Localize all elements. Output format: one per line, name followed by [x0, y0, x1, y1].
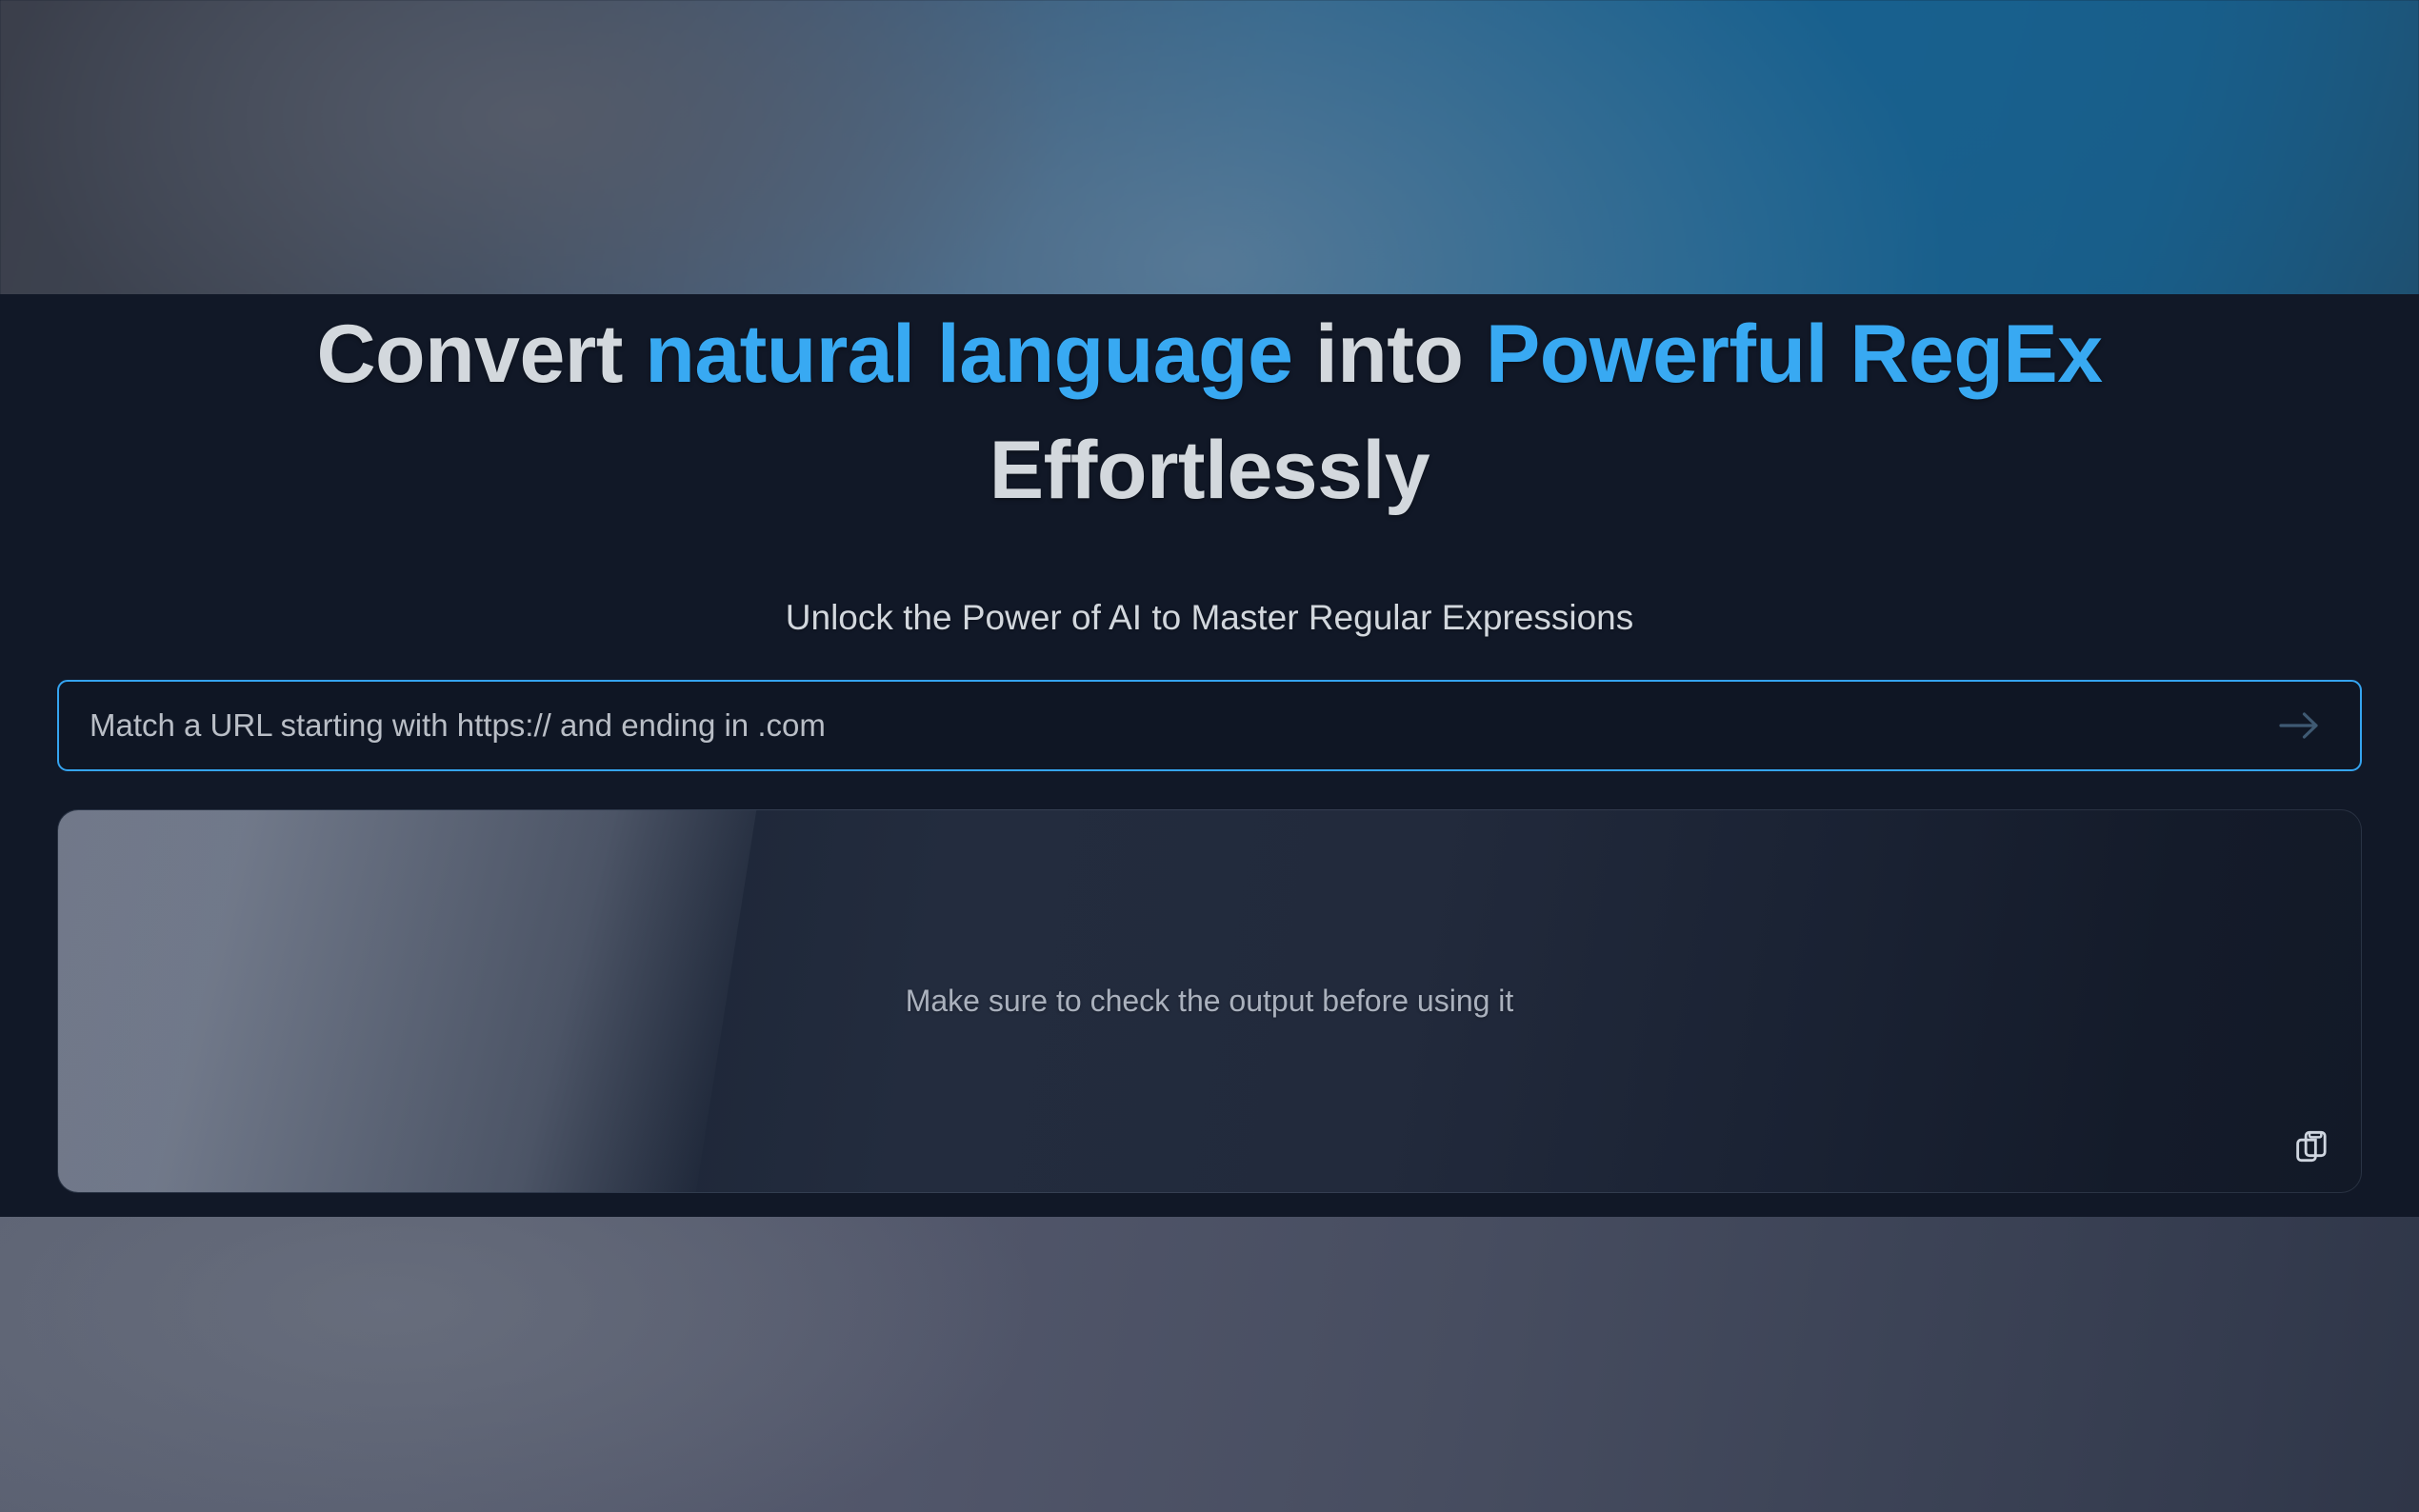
regex-output-panel[interactable]: Make sure to check the output before usi…	[57, 809, 2362, 1193]
regex-generator-app: Convert natural language into Powerful R…	[0, 294, 2419, 1217]
prompt-input[interactable]	[90, 682, 2269, 769]
page-title: Convert natural language into Powerful R…	[0, 313, 2419, 511]
headline-accent-1: natural language	[645, 308, 1292, 400]
desktop-wallpaper-top	[0, 0, 2419, 295]
headline-accent-2: Powerful RegEx	[1486, 308, 2103, 400]
headline-segment-1: Convert	[316, 308, 645, 400]
headline-line-2: Effortlessly	[0, 429, 2419, 511]
app-screen: Convert natural language into Powerful R…	[0, 0, 2419, 1512]
page-subtitle: Unlock the Power of AI to Master Regular…	[0, 598, 2419, 638]
arrow-right-icon	[2278, 709, 2322, 742]
desktop-wallpaper-bottom	[0, 1217, 2419, 1512]
headline-segment-2: into	[1292, 308, 1485, 400]
copy-clipboard-icon	[2292, 1127, 2330, 1165]
copy-output-button[interactable]	[2287, 1122, 2336, 1171]
submit-prompt-button[interactable]	[2269, 694, 2331, 757]
prompt-input-row[interactable]	[57, 680, 2362, 771]
output-hint-text: Make sure to check the output before usi…	[58, 810, 2361, 1192]
